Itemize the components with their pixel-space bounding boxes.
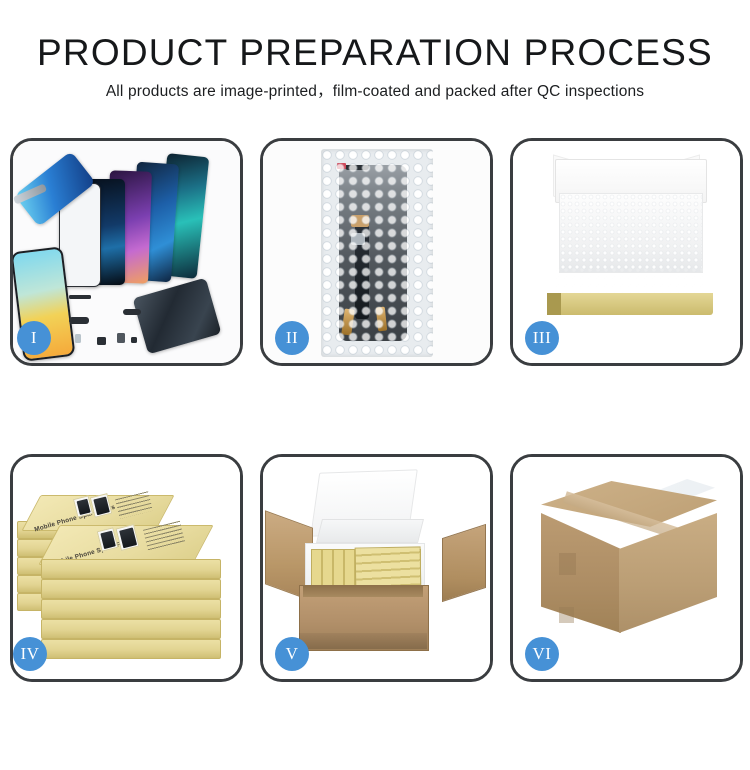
step-panel-4[interactable]: Mobile Phone Spare Parts Mobile Phone Sp… xyxy=(10,454,243,682)
foam-lid-edge xyxy=(316,519,424,543)
part-strip xyxy=(69,295,91,299)
step-badge-5: V xyxy=(275,637,309,671)
carton-handle-tab-lower xyxy=(559,607,574,623)
carton-inner-rim xyxy=(303,585,423,597)
page-header: PRODUCT PREPARATION PROCESS All products… xyxy=(0,0,750,104)
process-row-bottom: Mobile Phone Spare Parts Mobile Phone Sp… xyxy=(0,454,750,682)
step-badge-4: IV xyxy=(13,637,47,671)
carton-shadow xyxy=(299,633,427,649)
page-subtitle: All products are image-printed，film-coat… xyxy=(0,80,750,104)
bubble-wrap-bag xyxy=(321,149,433,357)
part-connector-d xyxy=(131,337,137,343)
stacked-box-fr-1 xyxy=(41,559,221,579)
box-stack: Mobile Phone Spare Parts Mobile Phone Sp… xyxy=(17,477,227,667)
step-badge-3: III xyxy=(525,321,559,355)
step-badge-2: II xyxy=(275,321,309,355)
foam-texture xyxy=(560,194,702,272)
step-panel-3[interactable]: III xyxy=(510,138,743,366)
part-connector-c xyxy=(117,333,125,343)
part-flex-cable-2 xyxy=(123,309,141,315)
step-badge-6: VI xyxy=(525,637,559,671)
yellow-box-front xyxy=(547,293,713,315)
stacked-box-fr-3 xyxy=(41,599,221,619)
step-panel-2[interactable]: II xyxy=(260,138,493,366)
page-title: PRODUCT PREPARATION PROCESS xyxy=(0,30,750,76)
part-connector-a xyxy=(75,334,81,343)
step-image-4: Mobile Phone Spare Parts Mobile Phone Sp… xyxy=(13,457,240,679)
stacked-box-fr-2 xyxy=(41,579,221,599)
bubble-texture-overlay xyxy=(321,149,433,357)
part-flex-cable xyxy=(69,317,89,324)
step-panel-6[interactable]: VI xyxy=(510,454,743,682)
carton-handle-tab-upper xyxy=(559,553,576,575)
step-badge-1: I xyxy=(17,321,51,355)
stacked-box-fr-5 xyxy=(41,639,221,659)
process-row-top: I II xyxy=(0,138,750,366)
stacked-box-fr-4 xyxy=(41,619,221,639)
process-steps-grid: I II xyxy=(0,138,750,770)
step-panel-5[interactable]: V xyxy=(260,454,493,682)
yellow-box-edge xyxy=(547,293,561,315)
foam-sheet xyxy=(559,193,703,273)
step-panel-1[interactable]: I xyxy=(10,138,243,366)
part-connector-b xyxy=(97,337,106,345)
